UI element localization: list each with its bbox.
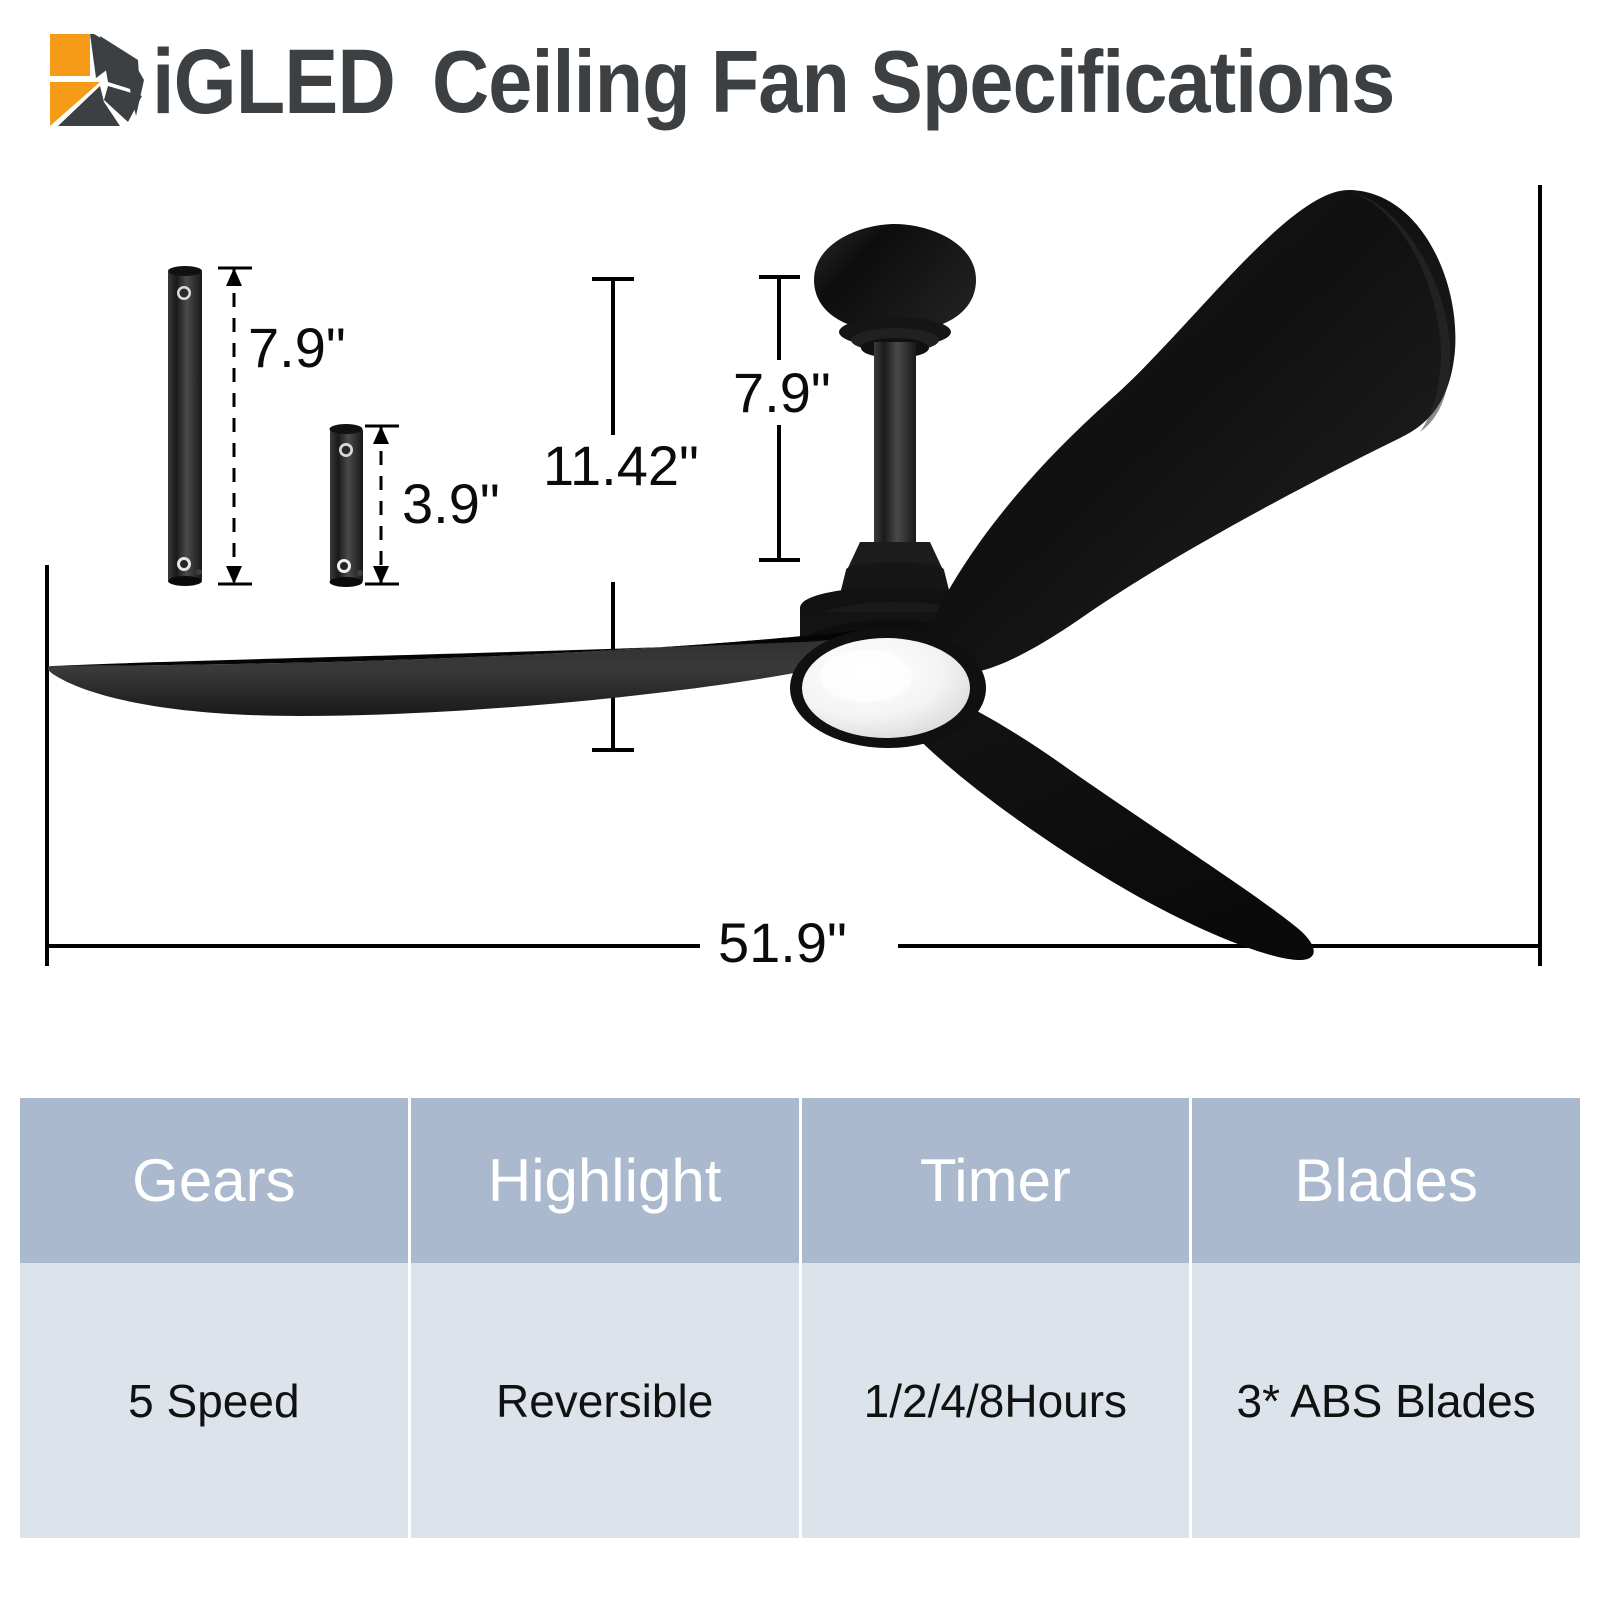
fan-blade-upper-right <box>928 190 1455 673</box>
table-header-cell-blades: Blades <box>1192 1098 1580 1263</box>
dimension-label-total-height: 11.42" <box>543 438 699 494</box>
table-cell-gears-value: 5 Speed <box>20 1263 411 1538</box>
dimension-label-downrod-long: 7.9" <box>248 320 346 376</box>
table-body-row: 5 Speed Reversible 1/2/4/8Hours 3* ABS B… <box>20 1263 1580 1538</box>
dimension-line-downrod-long <box>218 268 252 584</box>
fan-downrod <box>846 342 944 572</box>
table-cell-timer-value: 1/2/4/8Hours <box>802 1263 1193 1538</box>
dimension-line-downrod-short <box>365 426 399 584</box>
specification-table: Gears Highlight Timer Blades 5 Speed Rev… <box>20 1098 1580 1538</box>
table-header-cell-timer: Timer <box>802 1098 1193 1263</box>
long-downrod <box>168 266 202 586</box>
table-header-cell-highlight: Highlight <box>411 1098 802 1263</box>
table-header-row: Gears Highlight Timer Blades <box>20 1098 1580 1263</box>
digled-aperture-logo-icon <box>44 30 156 130</box>
dimension-label-drop-height: 7.9" <box>733 365 831 421</box>
table-cell-highlight-value: Reversible <box>411 1263 802 1538</box>
dimension-label-downrod-short: 3.9" <box>402 476 500 532</box>
short-downrod <box>330 424 364 587</box>
table-header-cell-gears: Gears <box>20 1098 411 1263</box>
page-title: Ceiling Fan Specifications <box>432 30 1394 134</box>
dimension-label-blade-span: 51.9" <box>718 915 847 971</box>
page-header: iGLED Ceiling Fan Specifications <box>0 0 1600 160</box>
led-light-dome <box>790 628 986 748</box>
fan-dimension-diagram: 7.9" 3.9" 11.42" 7.9" 51.9" <box>0 160 1600 1050</box>
table-cell-blades-value: 3* ABS Blades <box>1192 1263 1580 1538</box>
brand-wordmark: iGLED <box>152 32 395 132</box>
ceiling-canopy <box>814 224 976 358</box>
